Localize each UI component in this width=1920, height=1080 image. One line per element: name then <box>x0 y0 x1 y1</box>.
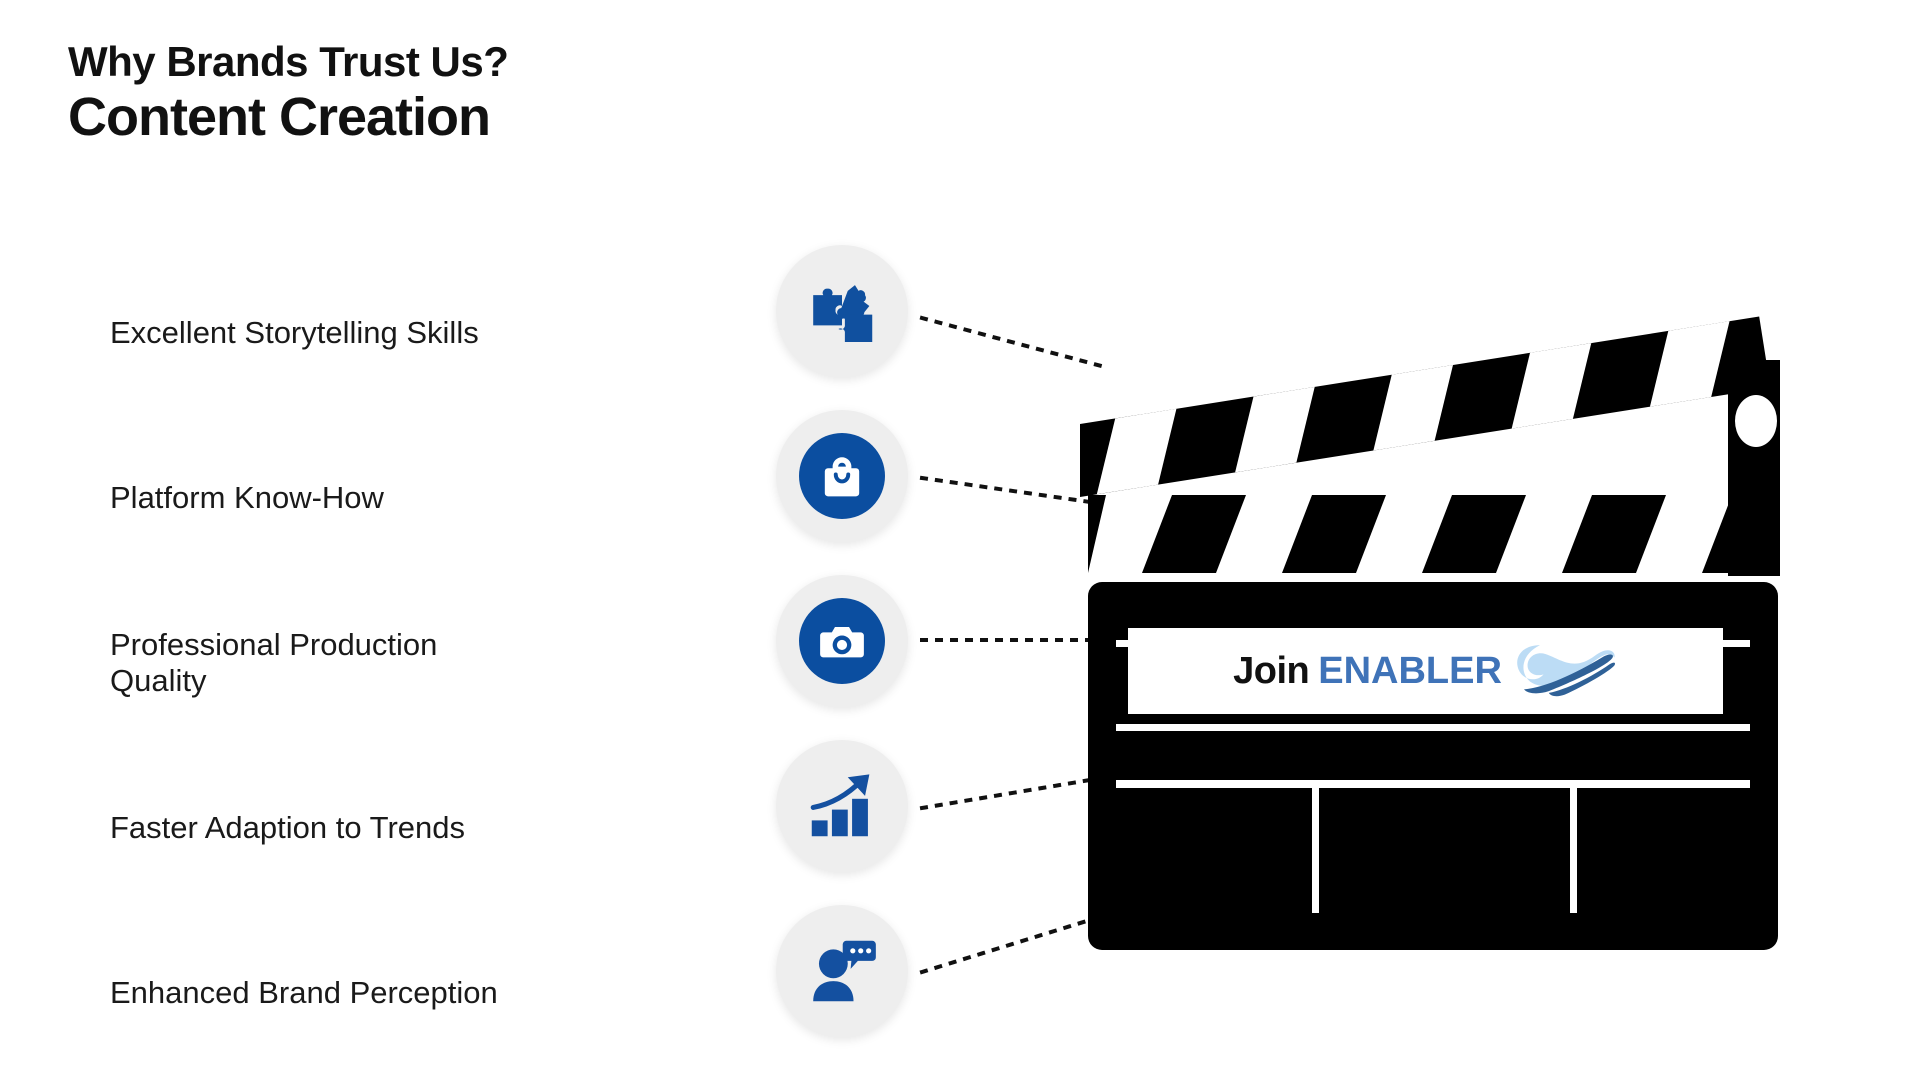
icon-slot <box>762 393 922 558</box>
icon-slot <box>762 723 922 888</box>
feature-label: Platform Know-How <box>110 480 384 516</box>
icon-slot <box>762 888 922 1053</box>
list-item[interactable]: Excellent Storytelling Skills <box>110 250 750 415</box>
list-item[interactable]: Enhanced Brand Perception <box>110 910 750 1075</box>
wave-swoosh-icon <box>1508 638 1618 700</box>
connector-line-5 <box>922 920 1090 972</box>
clapper-gap-line <box>1088 576 1778 582</box>
clapper-divider-1 <box>1312 788 1319 913</box>
person-speech-bubble-glyph <box>806 935 878 1007</box>
clapper-bottom-rule <box>1116 780 1750 788</box>
feature-label: Excellent Storytelling Skills <box>110 315 479 351</box>
puzzle-pieces-glyph <box>806 275 878 347</box>
feature-label-list: Excellent Storytelling Skills Platform K… <box>110 250 750 1075</box>
connector-line-2 <box>922 478 1090 502</box>
clapper-hinge <box>1728 360 1780 576</box>
page-title: Why Brands Trust Us? Content Creation <box>68 38 828 148</box>
camera-glyph <box>817 616 867 666</box>
shopping-bag-glyph <box>817 451 867 501</box>
icon-slot <box>762 558 922 723</box>
clapper-bottom-stick <box>1088 495 1778 573</box>
growth-chart-glyph <box>806 770 878 842</box>
slide-root: Why Brands Trust Us? Content Creation Ex… <box>0 0 1920 1080</box>
feature-label: Faster Adaption to Trends <box>110 810 465 846</box>
puzzle-pieces-icon[interactable] <box>776 245 908 377</box>
icon-slot <box>762 228 922 393</box>
heading-title: Content Creation <box>68 87 828 147</box>
shopping-bag-icon[interactable] <box>776 410 908 542</box>
clapper-divider-2 <box>1570 788 1577 913</box>
growth-chart-icon[interactable] <box>776 740 908 872</box>
brand-word-enabler: ENABLER <box>1318 650 1502 693</box>
connector-line-1 <box>922 318 1105 367</box>
feature-icon-column <box>762 228 922 1053</box>
brand-wordmark: Join ENABLER <box>1233 650 1502 693</box>
camera-icon[interactable] <box>776 575 908 707</box>
connector-line-4 <box>922 780 1090 808</box>
clapper-top-stick <box>1080 316 1770 497</box>
list-item[interactable]: Platform Know-How <box>110 415 750 580</box>
feature-label: Enhanced Brand Perception <box>110 975 498 1011</box>
list-item[interactable]: Faster Adaption to Trends <box>110 745 750 910</box>
person-speech-bubble-icon[interactable] <box>776 905 908 1037</box>
brand-logo: Join ENABLER <box>1128 628 1723 714</box>
heading-eyebrow: Why Brands Trust Us? <box>68 38 828 85</box>
brand-word-join: Join <box>1233 650 1309 693</box>
list-item[interactable]: Professional Production Quality <box>110 580 750 745</box>
feature-label: Professional Production Quality <box>110 627 540 699</box>
